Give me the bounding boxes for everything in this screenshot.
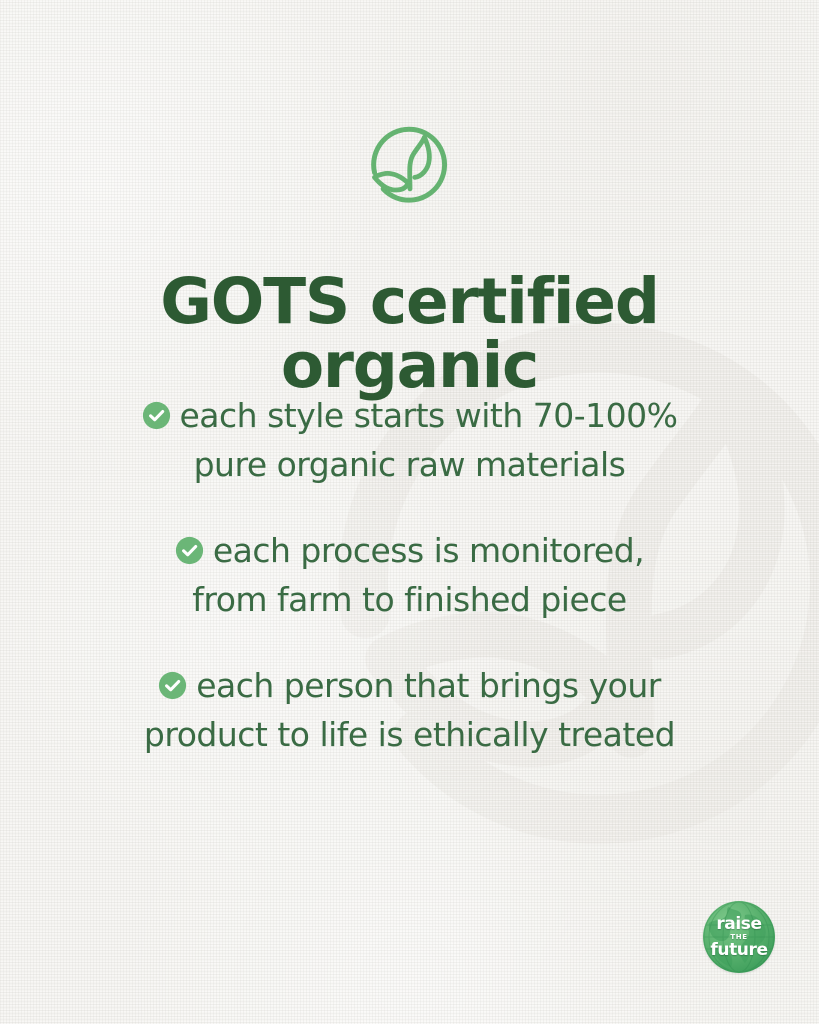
page-title-line-2: organic bbox=[60, 334, 759, 398]
brand-logo-badge: raise THE future bbox=[703, 901, 775, 973]
list-item-line-2: product to life is ethically treated bbox=[144, 715, 675, 754]
list-item-line-1: each process is monitored, bbox=[213, 531, 644, 570]
brand-word-raise: raise bbox=[716, 916, 761, 933]
poster-canvas: GOTS certified organic each style starts… bbox=[0, 0, 819, 1024]
list-item-line-1: each style starts with 70-100% bbox=[180, 396, 678, 435]
check-circle-icon bbox=[175, 536, 204, 565]
brand-word-future: future bbox=[710, 942, 767, 959]
brand-logo-text: raise THE future bbox=[703, 901, 775, 973]
sprout-in-circle-icon bbox=[361, 117, 459, 209]
check-circle-icon bbox=[142, 401, 171, 430]
benefits-list: each style starts with 70-100% pure orga… bbox=[0, 392, 819, 759]
page-title-line-1: GOTS certified bbox=[160, 265, 658, 338]
poster-content: GOTS certified organic each style starts… bbox=[0, 0, 819, 1024]
list-item-line-1: each person that brings your bbox=[196, 666, 661, 705]
page-title: GOTS certified organic bbox=[0, 270, 819, 399]
list-item: each process is monitored, from farm to … bbox=[0, 527, 819, 624]
list-item-line-2: pure organic raw materials bbox=[194, 445, 626, 484]
check-circle-icon bbox=[158, 671, 187, 700]
list-item: each style starts with 70-100% pure orga… bbox=[0, 392, 819, 489]
list-item: each person that brings your product to … bbox=[0, 662, 819, 759]
list-item-line-2: from farm to finished piece bbox=[192, 580, 626, 619]
